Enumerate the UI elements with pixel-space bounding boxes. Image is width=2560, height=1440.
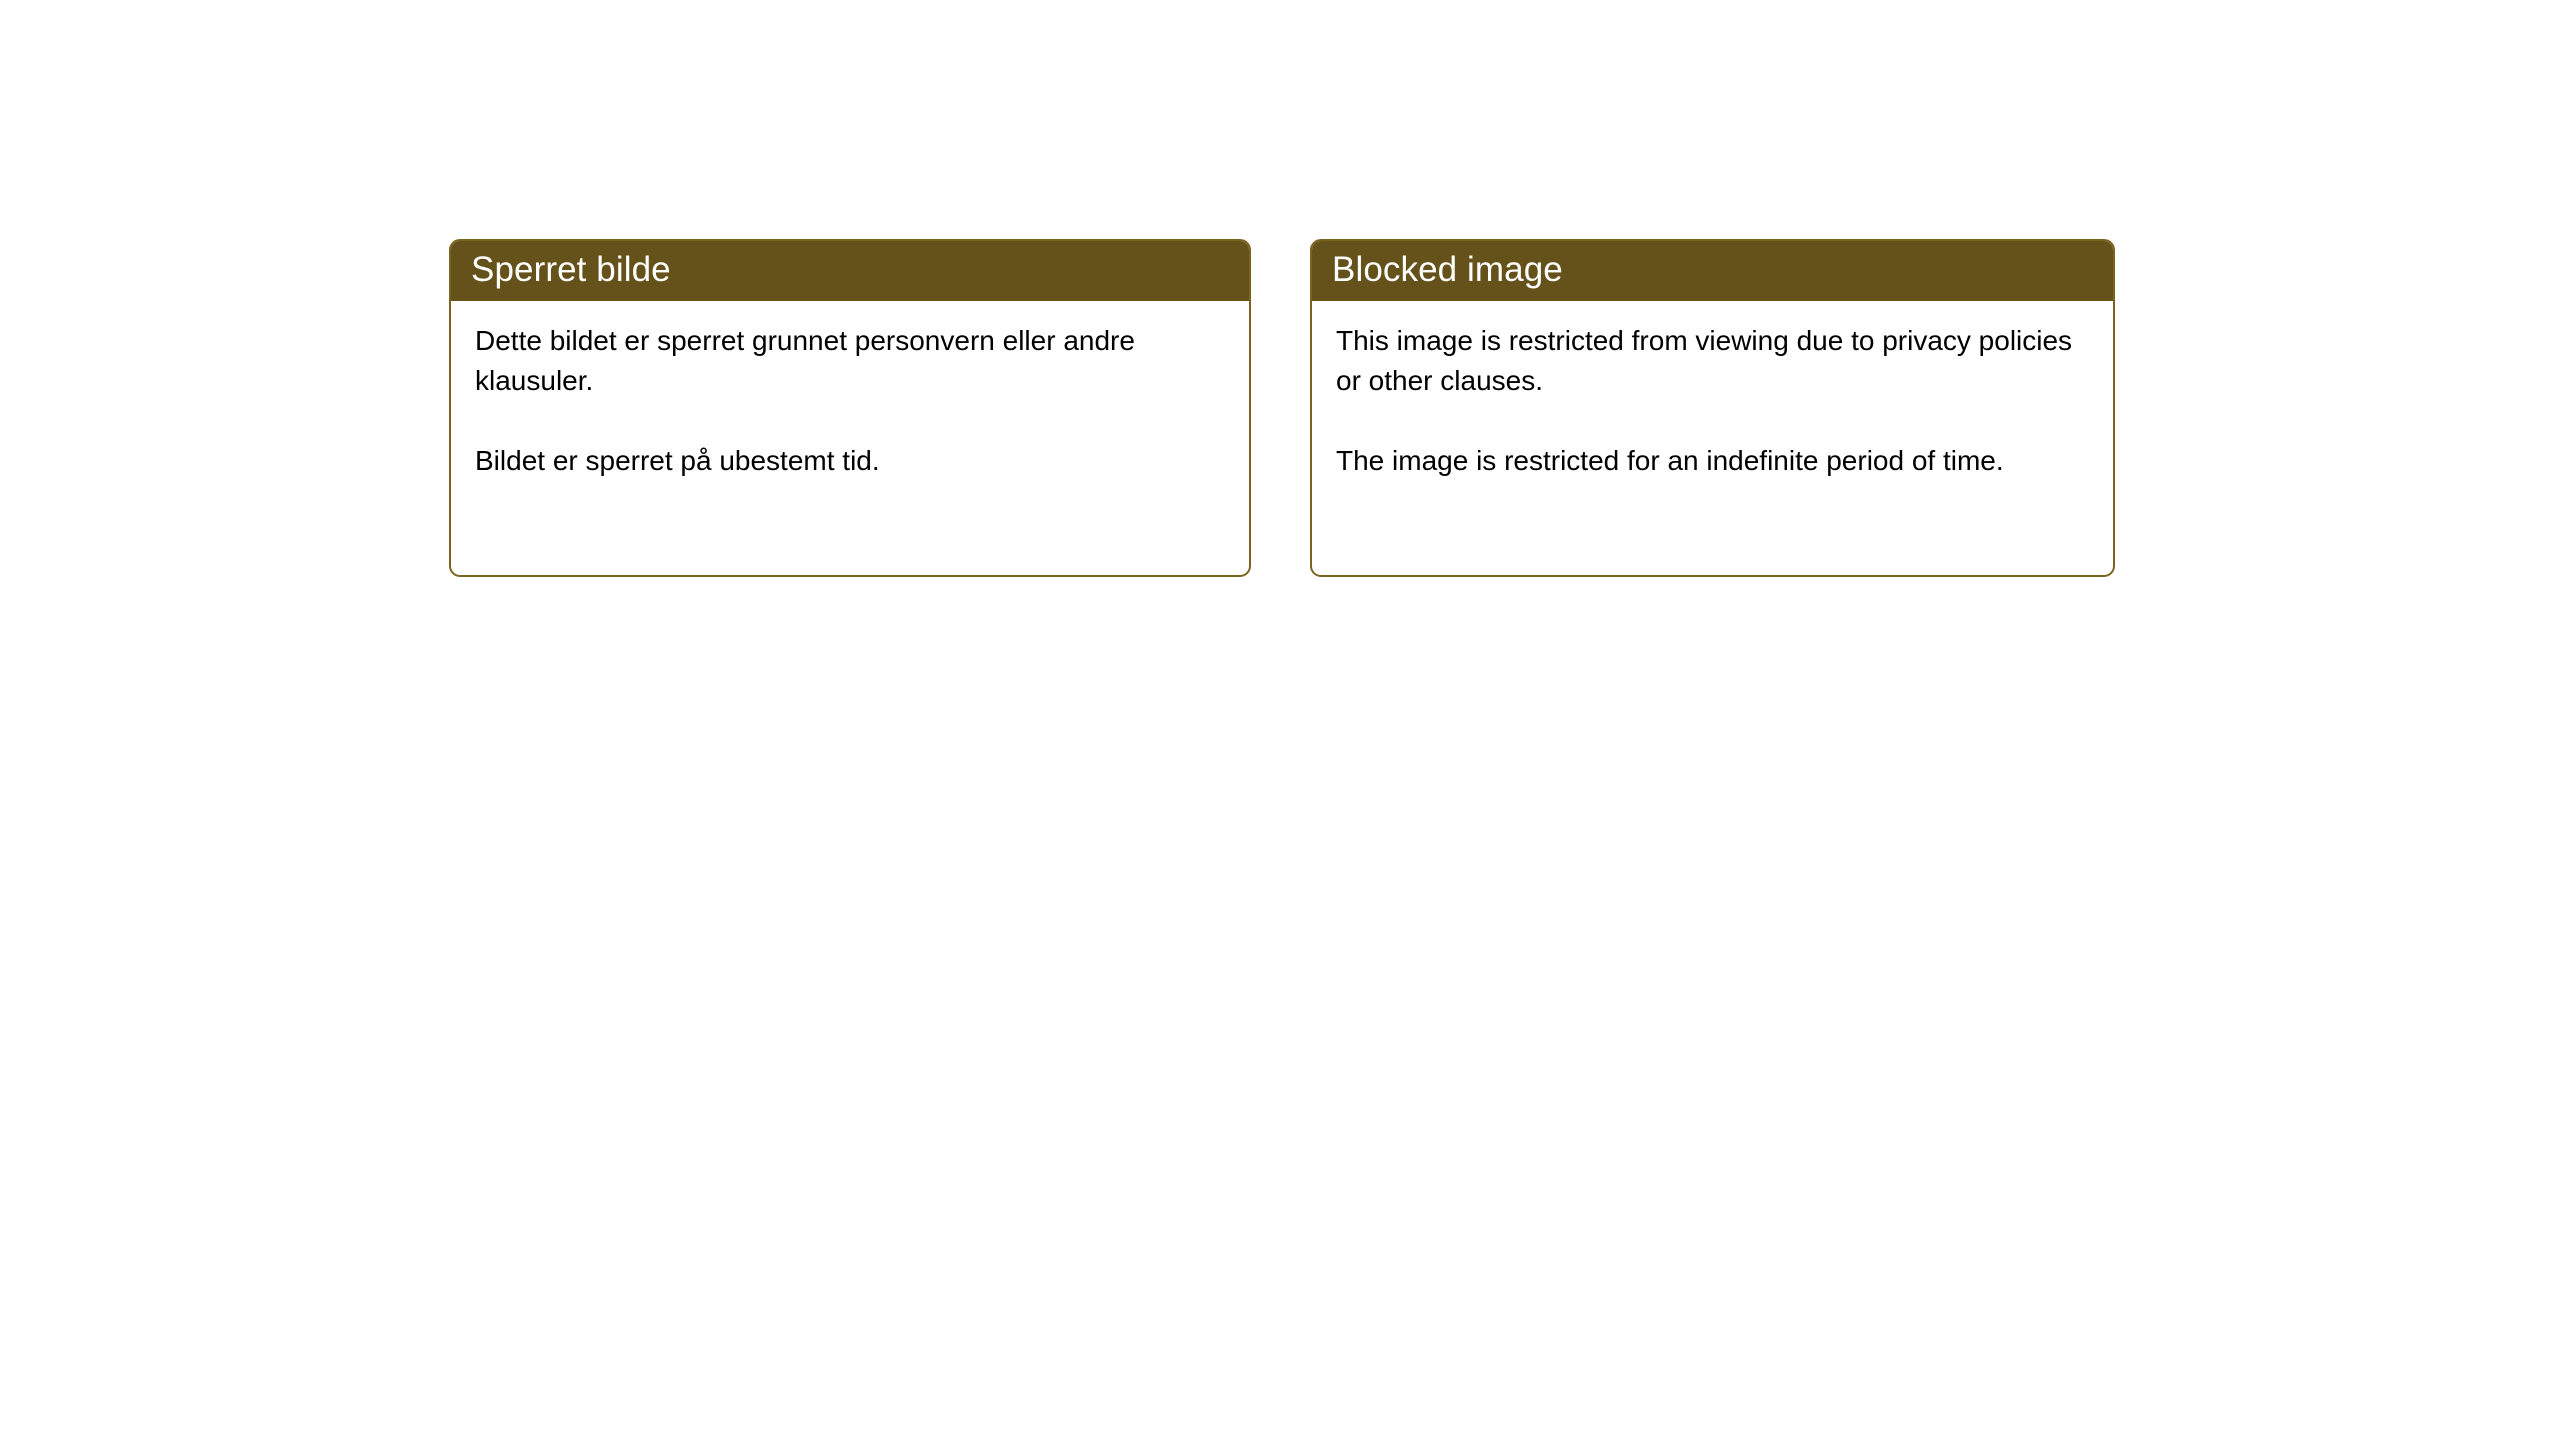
- paragraph-spacer: [475, 401, 1223, 441]
- panel-header-en: Blocked image: [1310, 239, 2115, 301]
- blocked-image-notice-en: Blocked image This image is restricted f…: [1310, 239, 2115, 577]
- panel-paragraph-en-2: The image is restricted for an indefinit…: [1336, 441, 2087, 481]
- panel-body-no: Dette bildet er sperret grunnet personve…: [451, 301, 1249, 481]
- panel-paragraph-no-1: Dette bildet er sperret grunnet personve…: [475, 321, 1223, 401]
- panel-paragraph-no-2: Bildet er sperret på ubestemt tid.: [475, 441, 1223, 481]
- paragraph-spacer: [1336, 401, 2087, 441]
- panel-body-en: This image is restricted from viewing du…: [1312, 301, 2113, 481]
- panel-title-no: Sperret bilde: [471, 250, 671, 290]
- panel-title-en: Blocked image: [1332, 250, 1563, 290]
- page-canvas: Sperret bilde Dette bildet er sperret gr…: [0, 0, 2560, 1440]
- panel-paragraph-en-1: This image is restricted from viewing du…: [1336, 321, 2087, 401]
- panel-header-no: Sperret bilde: [449, 239, 1251, 301]
- blocked-image-notice-no: Sperret bilde Dette bildet er sperret gr…: [449, 239, 1251, 577]
